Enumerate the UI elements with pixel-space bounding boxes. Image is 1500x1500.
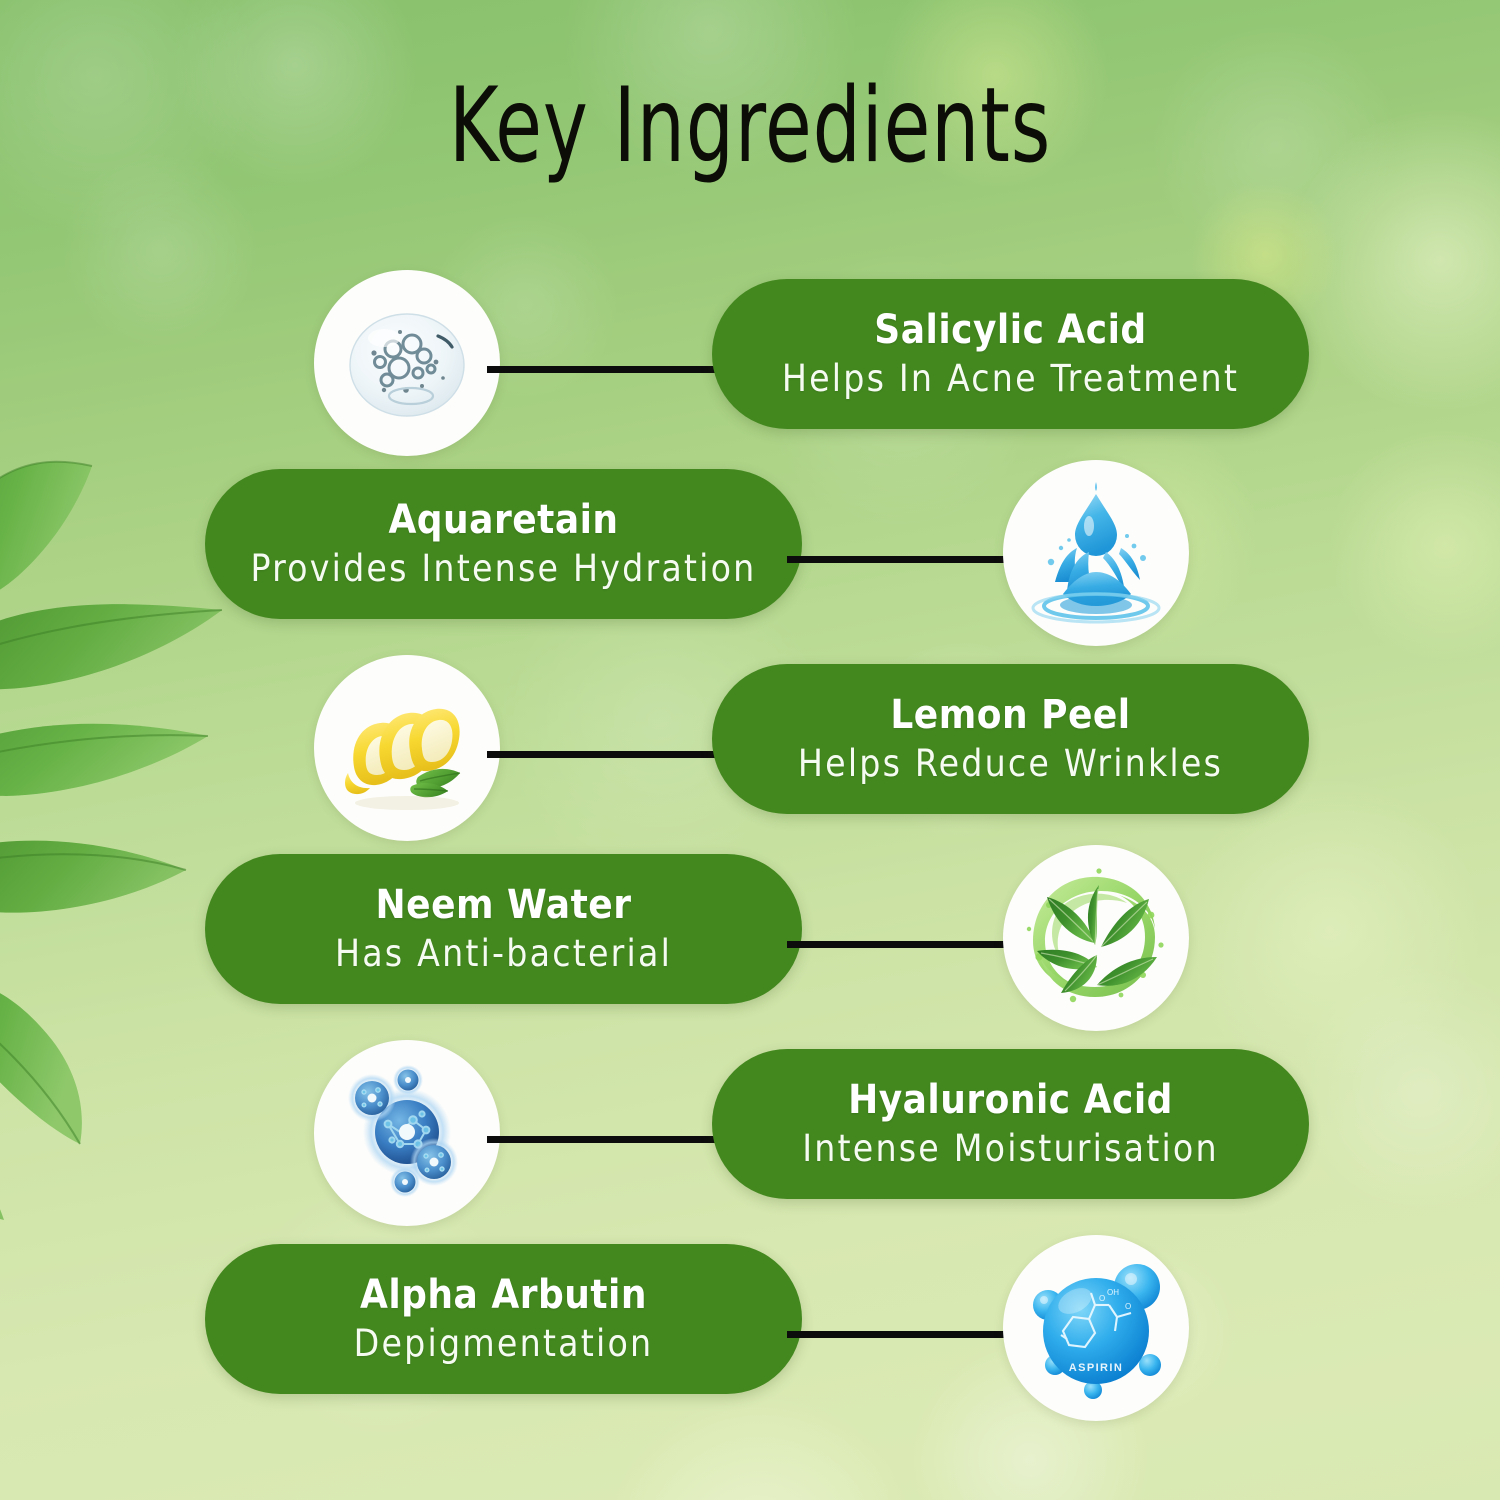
ingredient-row: Aquaretain Provides Intense Hydration (0, 460, 1500, 660)
ingredient-benefit: Helps In Acne Treatment (782, 358, 1239, 399)
ingredient-name: Salicylic Acid (874, 309, 1146, 351)
svg-text:OH: OH (1107, 1288, 1119, 1297)
infographic-canvas: Key Ingredients (0, 0, 1500, 1500)
ingredient-benefit: Provides Intense Hydration (251, 548, 757, 589)
aspirin-label: ASPIRIN (1069, 1362, 1123, 1374)
ingredient-benefit: Has Anti-bacterial (335, 933, 672, 974)
connector-line (787, 556, 1019, 563)
ingredient-pill[interactable]: Lemon Peel Helps Reduce Wrinkles (712, 664, 1309, 814)
connector-line (487, 366, 719, 373)
ingredient-benefit: Depigmentation (354, 1323, 654, 1364)
molecule-spheres-icon (314, 1040, 500, 1226)
ingredient-row: Salicylic Acid Helps In Acne Treatment (0, 270, 1500, 470)
ingredient-name: Aquaretain (388, 499, 618, 541)
ingredient-row: Hyaluronic Acid Intense Moisturisation (0, 1040, 1500, 1240)
page-title: Key Ingredients (135, 72, 1365, 180)
ingredient-row: Neem Water Has Anti-bacterial (0, 845, 1500, 1045)
ingredient-pill[interactable]: Hyaluronic Acid Intense Moisturisation (712, 1049, 1309, 1199)
ingredient-row: Alpha Arbutin Depigmentation (0, 1235, 1500, 1435)
aspirin-molecule-sphere-icon: OH O O ASPIRIN (1003, 1235, 1189, 1421)
connector-line (487, 1136, 719, 1143)
water-droplet-splash-icon (1003, 460, 1189, 646)
ingredient-benefit: Helps Reduce Wrinkles (798, 743, 1223, 784)
ingredient-pill[interactable]: Aquaretain Provides Intense Hydration (205, 469, 802, 619)
connector-line (787, 941, 1019, 948)
neem-leaves-swirl-icon (1003, 845, 1189, 1031)
connector-line (487, 751, 719, 758)
ingredient-row: Lemon Peel Helps Reduce Wrinkles (0, 655, 1500, 855)
ingredient-pill[interactable]: Neem Water Has Anti-bacterial (205, 854, 802, 1004)
ingredient-benefit: Intense Moisturisation (802, 1128, 1219, 1169)
svg-text:O: O (1099, 1294, 1105, 1303)
ingredient-pill[interactable]: Salicylic Acid Helps In Acne Treatment (712, 279, 1309, 429)
lemon-peel-spiral-icon (314, 655, 500, 841)
ingredient-name: Alpha Arbutin (360, 1274, 647, 1316)
svg-text:O: O (1125, 1302, 1131, 1311)
ingredient-name: Neem Water (376, 884, 632, 926)
connector-line (787, 1331, 1019, 1338)
ingredient-name: Lemon Peel (890, 694, 1130, 736)
serum-gel-drop-icon (314, 270, 500, 456)
ingredient-name: Hyaluronic Acid (848, 1079, 1173, 1121)
ingredient-pill[interactable]: Alpha Arbutin Depigmentation (205, 1244, 802, 1394)
